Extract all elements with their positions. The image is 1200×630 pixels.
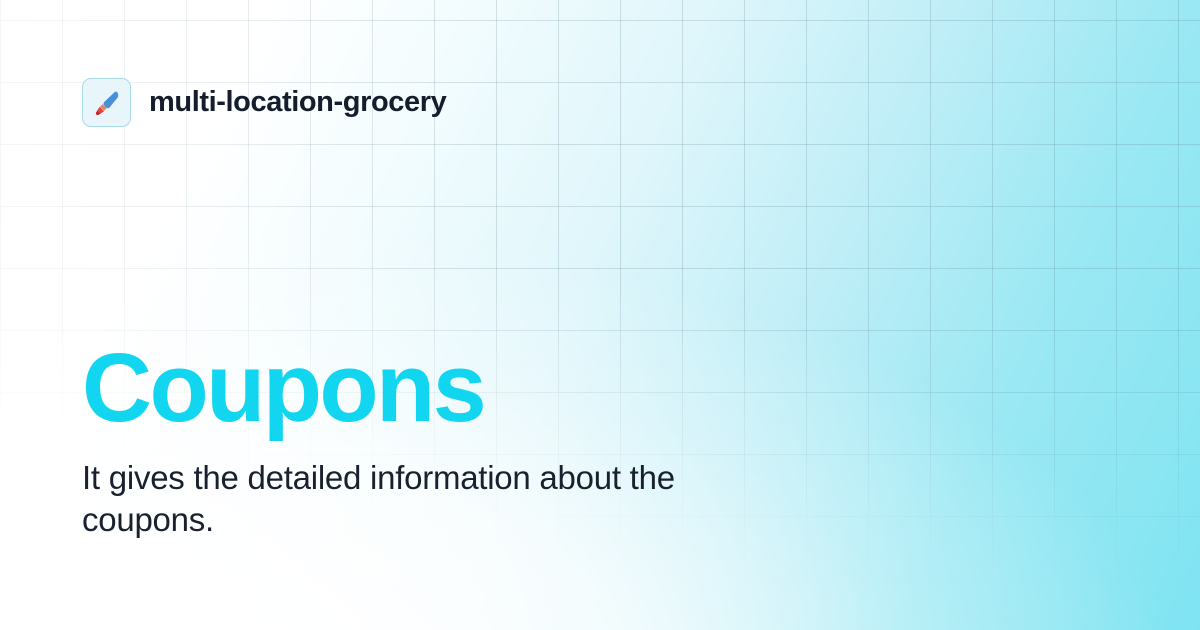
paintbrush-icon [92,88,122,118]
hero-text-block: Coupons It gives the detailed informatio… [82,342,842,540]
page-title: Coupons [82,342,842,433]
brand-header: multi-location-grocery [82,78,446,127]
og-preview-card: multi-location-grocery Coupons It gives … [0,0,1200,630]
card-content: multi-location-grocery Coupons It gives … [0,0,1200,630]
brand-logo-badge [82,78,131,127]
page-description: It gives the detailed information about … [82,457,772,540]
brand-name: multi-location-grocery [149,86,446,119]
